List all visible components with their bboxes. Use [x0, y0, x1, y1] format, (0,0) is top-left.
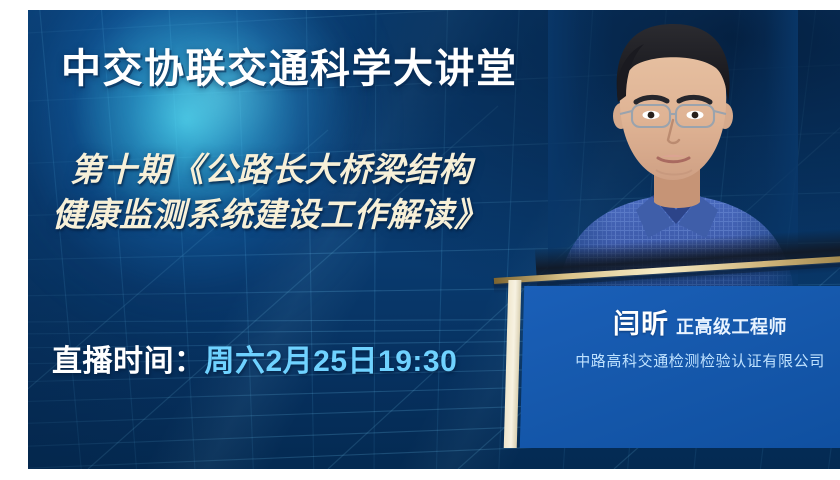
- poster-subtitle: 第十期《公路长大桥梁结构 健康监测系统建设工作解读》: [52, 148, 572, 237]
- broadcast-time-label: 直播时间：: [52, 345, 205, 378]
- speaker-job-title: 正高级工程师: [676, 313, 787, 339]
- speaker-name: 闫昕: [613, 302, 669, 341]
- subtitle-line-2: 健康监测系统建设工作解读》: [52, 193, 572, 238]
- subtitle-line-1: 第十期《公路长大桥梁结构: [52, 148, 572, 193]
- speaker-info-panel: 闫昕 正高级工程师 中路高科交通检测检验认证有限公司: [504, 286, 840, 448]
- poster-stage: 闫昕 正高级工程师 中路高科交通检测检验认证有限公司 中交协联交通科学大讲堂 第…: [28, 10, 840, 469]
- broadcast-time-value: 周六2月25日19:30: [205, 345, 458, 378]
- broadcast-time: 直播时间：周六2月25日19:30: [52, 336, 457, 380]
- page-title: 中交协联交通科学大讲堂: [61, 36, 518, 94]
- poster-root: 闫昕 正高级工程师 中路高科交通检测检验认证有限公司 中交协联交通科学大讲堂 第…: [0, 0, 840, 480]
- speaker-name-row: 闫昕 正高级工程师: [613, 302, 787, 341]
- panel-body: 闫昕 正高级工程师 中路高科交通检测检验认证有限公司: [520, 286, 840, 448]
- speaker-organization: 中路高科交通检测检验认证有限公司: [575, 350, 825, 371]
